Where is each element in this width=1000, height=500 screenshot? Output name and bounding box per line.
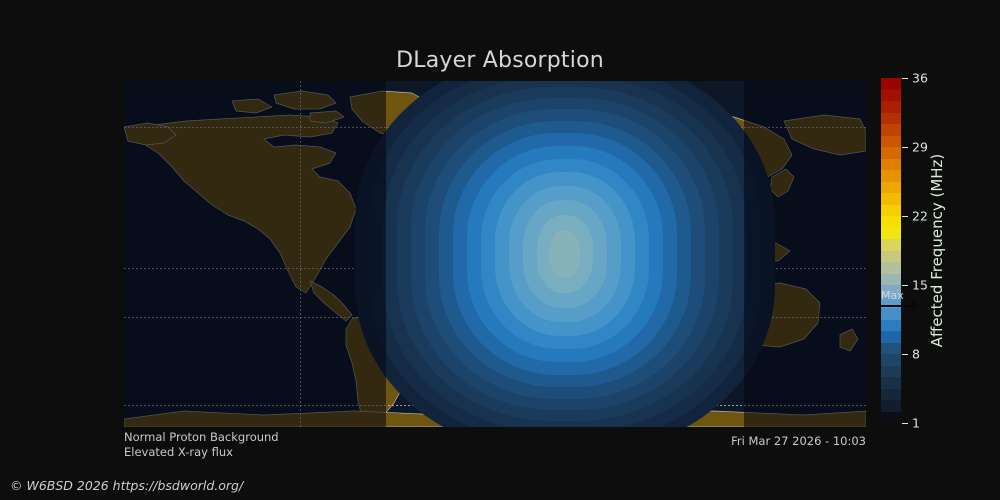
colorbar-step-12 [881,274,901,286]
colorbar-step-28 [881,90,901,102]
colorbar-step-23 [881,147,901,159]
colorbar-step-4 [881,366,901,378]
colorbar-step-3 [881,377,901,389]
colorbar-tick-label-1: 1 [912,416,920,431]
colorbar-step-26 [881,113,901,125]
colorbar-tick-label-8: 8 [912,347,920,362]
page-title: DLayer Absorption [0,48,1000,73]
colorbar-step-9 [881,308,901,320]
colorbar-step-18 [881,205,901,217]
colorbar-step-16 [881,228,901,240]
chart-root: DLayer Absorption [0,0,1000,500]
colorbar-step-6 [881,343,901,355]
colorbar-step-5 [881,354,901,366]
colorbar-step-19 [881,193,901,205]
landmass-layer [124,81,866,427]
colorbar-step-11 [881,285,901,297]
colorbar-step-1 [881,400,901,412]
colorbar-tick-29 [902,147,908,148]
colorbar-step-29 [881,78,901,90]
colorbar-step-7 [881,331,901,343]
max-arrow-head-icon [911,300,920,312]
colorbar-gradient [881,78,901,423]
colorbar-tick-1 [902,423,908,424]
timestamp-text: Fri Mar 27 2026 - 10:03 [731,434,866,448]
colorbar-step-8 [881,320,901,332]
colorbar-step-2 [881,389,901,401]
world-map-panel[interactable] [124,81,866,427]
colorbar-step-17 [881,216,901,228]
colorbar-step-0 [881,412,901,424]
colorbar-step-25 [881,124,901,136]
proton-status-text: Normal Proton Background [124,430,279,444]
colorbar-tick-36 [902,78,908,79]
colorbar-step-10 [881,297,901,309]
xray-status-text: Elevated X-ray flux [124,445,233,459]
colorbar-axis-label: Affected Frequency (MHz) [924,78,946,423]
colorbar-step-14 [881,251,901,263]
colorbar-step-20 [881,182,901,194]
colorbar-step-24 [881,136,901,148]
colorbar-step-27 [881,101,901,113]
colorbar[interactable]: 1815222936 Max [881,78,901,423]
colorbar-step-13 [881,262,901,274]
colorbar-step-15 [881,239,901,251]
footer-credit: © W6BSD 2026 https://bsdworld.org/ [10,478,243,493]
colorbar-step-21 [881,170,901,182]
colorbar-tick-8 [902,354,908,355]
colorbar-step-22 [881,159,901,171]
colorbar-tick-15 [902,285,908,286]
colorbar-tick-22 [902,216,908,217]
